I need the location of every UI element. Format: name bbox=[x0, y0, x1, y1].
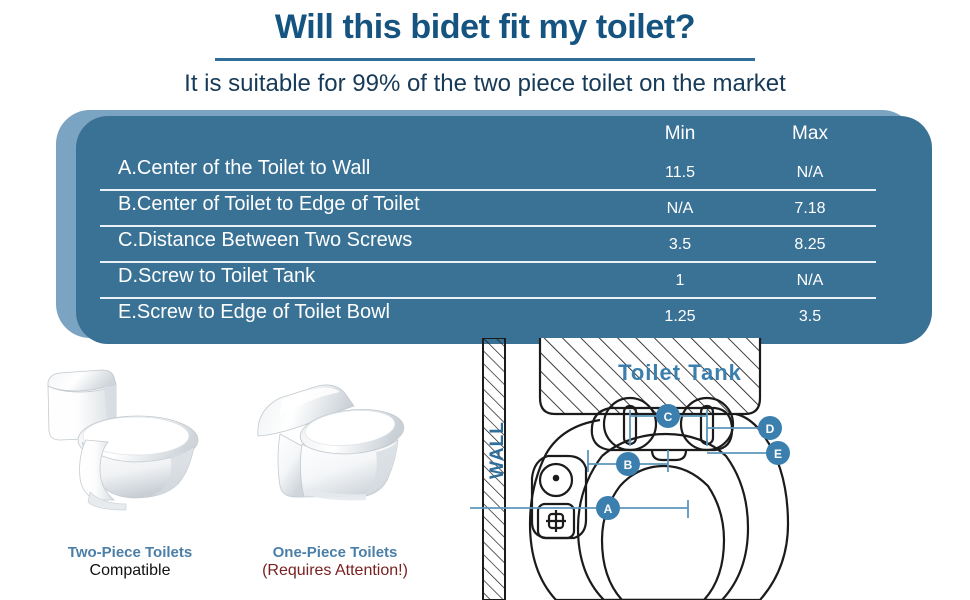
title-underline bbox=[215, 58, 755, 61]
row-label: B.Center of Toilet to Edge of Toilet bbox=[118, 193, 420, 216]
row-divider bbox=[100, 189, 876, 191]
svg-text:E: E bbox=[774, 447, 782, 461]
row-min-value: 3.5 bbox=[635, 236, 725, 254]
row-divider bbox=[100, 225, 876, 227]
infographic-page: Will this bidet fit my toilet? It is sui… bbox=[0, 0, 970, 600]
table-row: D.Screw to Toilet Tank 1 N/A bbox=[76, 264, 932, 300]
row-min-value: 1.25 bbox=[635, 308, 725, 326]
table-row: B.Center of Toilet to Edge of Toilet N/A… bbox=[76, 192, 932, 228]
row-divider bbox=[100, 261, 876, 263]
row-min-value: 1 bbox=[635, 272, 725, 290]
row-max-value: 8.25 bbox=[765, 236, 855, 254]
row-divider bbox=[100, 297, 876, 299]
wall-label: WALL bbox=[487, 423, 509, 479]
table-row: C.Distance Between Two Screws 3.5 8.25 bbox=[76, 228, 932, 264]
two-piece-toilet-photo bbox=[30, 360, 230, 535]
row-min-value: N/A bbox=[635, 200, 725, 218]
figure-subcaption-two-piece: Compatible bbox=[20, 562, 240, 580]
row-label: A.Center of the Toilet to Wall bbox=[118, 157, 370, 180]
row-label: E.Screw to Edge of Toilet Bowl bbox=[118, 301, 390, 324]
svg-text:D: D bbox=[766, 422, 775, 436]
figure-subcaption-one-piece: (Requires Attention!) bbox=[225, 562, 445, 580]
page-title: Will this bidet fit my toilet? bbox=[0, 8, 970, 47]
marker-badge-b: B bbox=[616, 452, 640, 476]
figure-caption-one-piece: One-Piece Toilets bbox=[225, 544, 445, 561]
svg-text:B: B bbox=[624, 458, 633, 472]
row-label: C.Distance Between Two Screws bbox=[118, 229, 412, 252]
svg-text:C: C bbox=[664, 410, 673, 424]
page-subtitle: It is suitable for 99% of the two piece … bbox=[0, 70, 970, 98]
marker-badge-c: C bbox=[656, 404, 680, 428]
table-row: A.Center of the Toilet to Wall 11.5 N/A bbox=[76, 156, 932, 192]
row-min-value: 11.5 bbox=[635, 164, 725, 182]
row-max-value: 7.18 bbox=[765, 200, 855, 218]
marker-badge-d: D bbox=[758, 416, 782, 440]
row-max-value: 3.5 bbox=[765, 308, 855, 326]
row-max-value: N/A bbox=[765, 272, 855, 290]
one-piece-toilet-photo bbox=[240, 360, 440, 535]
toilet-tank-label: Toilet Tank bbox=[560, 360, 800, 386]
spec-table: Min Max A.Center of the Toilet to Wall 1… bbox=[76, 116, 932, 344]
marker-badge-e: E bbox=[766, 441, 790, 465]
svg-text:A: A bbox=[604, 502, 613, 516]
marker-badge-a: A bbox=[596, 496, 620, 520]
figure-caption-two-piece: Two-Piece Toilets bbox=[20, 544, 240, 561]
table-row: E.Screw to Edge of Toilet Bowl 1.25 3.5 bbox=[76, 300, 932, 336]
row-label: D.Screw to Toilet Tank bbox=[118, 265, 315, 288]
column-header-max: Max bbox=[765, 123, 855, 145]
column-header-min: Min bbox=[635, 123, 725, 145]
row-max-value: N/A bbox=[765, 164, 855, 182]
